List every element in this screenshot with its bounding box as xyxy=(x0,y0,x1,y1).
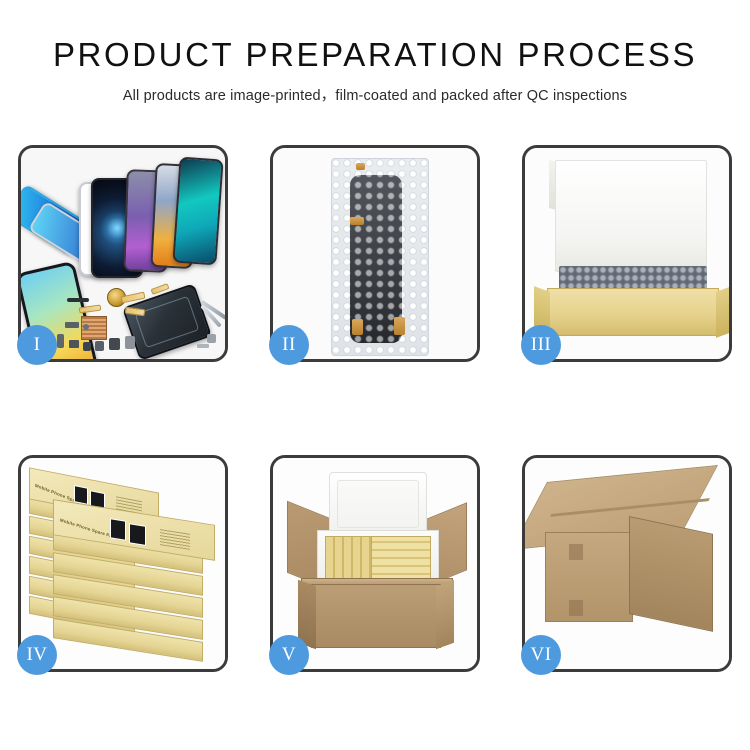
page-subtitle: All products are image-printed，film-coat… xyxy=(0,84,750,105)
step-numeral: II xyxy=(282,334,296,356)
step-numeral: I xyxy=(34,334,41,356)
box-artwork-screen xyxy=(129,523,146,546)
small-part xyxy=(83,342,91,351)
step-badge-6: VI xyxy=(521,635,561,675)
phone-teal-screen xyxy=(172,157,223,266)
step-1-image xyxy=(21,148,225,359)
page-header: PRODUCT PREPARATION PROCESS All products… xyxy=(0,0,750,105)
foam-box-lid xyxy=(329,472,427,536)
step-4-image: Mobile Phone Spare Parts Mobile Phone Sp… xyxy=(21,458,225,669)
step-5-image xyxy=(273,458,477,669)
foam-sheet xyxy=(555,160,707,272)
box-artwork-screen xyxy=(110,518,126,541)
tape-piece xyxy=(352,319,363,335)
step-4-caption: Stacked kraft retail boxes xyxy=(21,458,22,459)
small-part xyxy=(207,334,216,343)
page-title: PRODUCT PREPARATION PROCESS xyxy=(0,38,750,73)
step-badge-2: II xyxy=(269,325,309,365)
small-part xyxy=(65,322,79,328)
step-6-image xyxy=(525,458,729,669)
small-part xyxy=(197,344,209,348)
step-numeral: IV xyxy=(26,644,47,666)
small-part xyxy=(57,334,64,348)
bubble-wrap-bag xyxy=(331,158,429,356)
tape-piece xyxy=(394,317,405,335)
carton-front-face xyxy=(545,532,633,622)
process-step-panel-2[interactable]: II Screen assembly sealed in bubble wrap… xyxy=(270,145,480,362)
kraft-inner-box xyxy=(547,288,719,336)
step-badge-4: IV xyxy=(17,635,57,675)
step-numeral: III xyxy=(531,334,551,356)
process-step-panel-1[interactable]: I Assorted mobile phone screens and spar… xyxy=(18,145,228,362)
box-stack: Mobile Phone Spare Parts Mobile Phone Sp… xyxy=(27,486,225,662)
step-6-caption: Sealed shipping carton ready for dispatc… xyxy=(525,458,526,459)
step-5-caption: Outer carton loaded with foam box contai… xyxy=(273,458,274,459)
carton-body xyxy=(311,584,441,648)
carton-flap-tab xyxy=(569,544,583,560)
process-step-panel-4[interactable]: Mobile Phone Spare Parts Mobile Phone Sp… xyxy=(18,455,228,672)
small-part xyxy=(67,298,89,302)
process-step-panel-5[interactable]: V Outer carton loaded with foam box cont… xyxy=(270,455,480,672)
tape-piece xyxy=(350,217,364,225)
packed-kraft-boxes xyxy=(371,536,431,582)
process-step-panel-6[interactable]: VI Sealed shipping carton ready for disp… xyxy=(522,455,732,672)
step-numeral: VI xyxy=(530,644,551,666)
foam-lid-inset xyxy=(337,480,419,528)
step-badge-1: I xyxy=(17,325,57,365)
carton-side-face xyxy=(629,516,713,632)
step-badge-5: V xyxy=(269,635,309,675)
bubble-texture-overlay xyxy=(332,159,428,355)
small-part xyxy=(95,341,104,351)
step-3-image xyxy=(525,148,729,359)
carton-flap-tab xyxy=(569,600,583,616)
step-2-image xyxy=(273,148,477,359)
process-step-grid: I Assorted mobile phone screens and spar… xyxy=(18,145,732,672)
step-3-caption: Kraft inner box with foam sheet and bubb… xyxy=(525,148,526,149)
tape-piece xyxy=(356,163,365,170)
step-1-caption: Assorted mobile phone screens and spare … xyxy=(21,148,22,149)
small-part xyxy=(83,324,89,330)
step-numeral: V xyxy=(282,644,296,666)
step-badge-3: III xyxy=(521,325,561,365)
step-2-caption: Screen assembly sealed in bubble wrap ba… xyxy=(273,148,274,149)
small-part xyxy=(125,336,135,349)
process-step-panel-3[interactable]: III Kraft inner box with foam sheet and … xyxy=(522,145,732,362)
small-part xyxy=(109,338,120,350)
small-part xyxy=(69,340,79,348)
